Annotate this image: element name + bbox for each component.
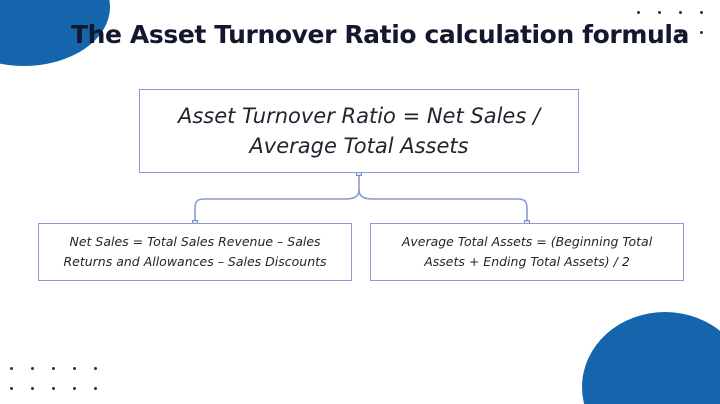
dot <box>700 31 703 34</box>
dot <box>52 387 55 390</box>
node-average-total-assets[interactable]: Average Total Assets = (Beginning Total … <box>370 223 684 281</box>
dot <box>94 387 97 390</box>
dot <box>10 367 13 370</box>
dot <box>637 11 640 14</box>
dot <box>700 11 703 14</box>
node-asset-turnover-ratio[interactable]: Asset Turnover Ratio = Net Sales / Avera… <box>139 89 579 173</box>
dot <box>31 367 34 370</box>
dot <box>679 11 682 14</box>
slide-canvas: The Asset Turnover Ratio calculation for… <box>0 0 720 404</box>
dot <box>73 367 76 370</box>
dot <box>73 387 76 390</box>
dot <box>10 387 13 390</box>
dot <box>658 11 661 14</box>
dot <box>31 387 34 390</box>
page-title: The Asset Turnover Ratio calculation for… <box>71 20 689 49</box>
node-net-sales[interactable]: Net Sales = Total Sales Revenue – Sales … <box>38 223 352 281</box>
dot <box>94 367 97 370</box>
dot-grid-bottom-left <box>10 367 97 390</box>
blue-circle-bottom-right-decoration <box>582 312 720 404</box>
dot <box>52 367 55 370</box>
